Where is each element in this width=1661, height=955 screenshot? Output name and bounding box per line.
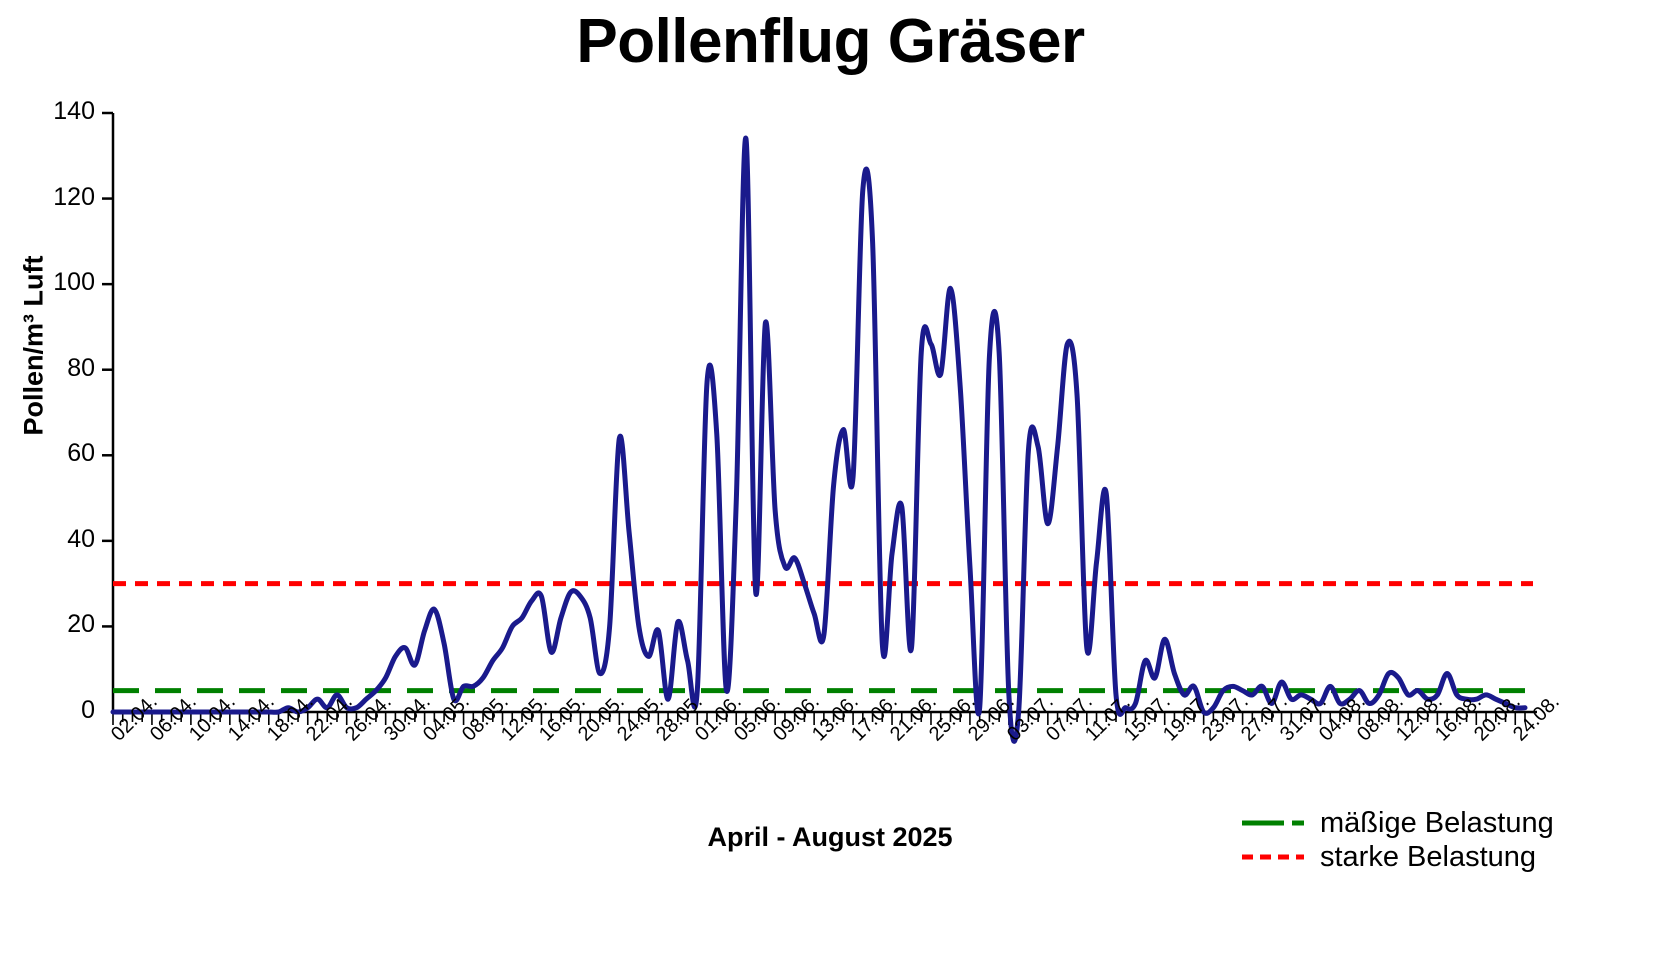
y-axis-tick-label: 100: [35, 268, 95, 297]
legend-item-maessige: mäßige Belastung: [1240, 806, 1660, 840]
y-axis-tick-label: 140: [35, 97, 95, 126]
y-axis-tick-label: 60: [35, 439, 95, 468]
legend-label-starke: starke Belastung: [1320, 843, 1536, 872]
chart-canvas: Pollenflug Gräser Pollen/m³ Luft April -…: [0, 0, 1661, 955]
legend: mäßige Belastung starke Belastung: [1240, 806, 1660, 874]
data-series: [113, 138, 1525, 741]
y-axis-tick-label: 20: [35, 610, 95, 639]
y-axis-tick-label: 0: [35, 696, 95, 725]
green-dashed-line-icon: [1240, 814, 1318, 832]
y-axis-tick-label: 120: [35, 183, 95, 212]
red-dashed-line-icon: [1240, 848, 1318, 866]
legend-item-starke: starke Belastung: [1240, 840, 1660, 874]
legend-label-maessige: mäßige Belastung: [1320, 809, 1554, 838]
y-axis-tick-label: 80: [35, 354, 95, 383]
y-axis-tick-label: 40: [35, 525, 95, 554]
series-line-0: [113, 138, 1525, 741]
